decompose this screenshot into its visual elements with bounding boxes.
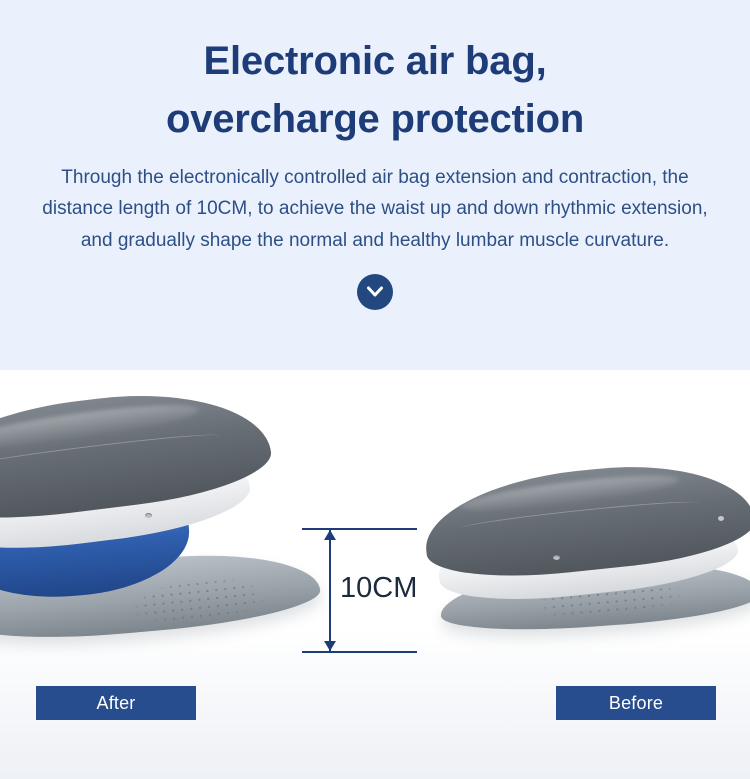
device-after-inflated xyxy=(0,380,340,650)
device-port-dot xyxy=(145,513,152,518)
device-port-dot xyxy=(718,516,724,521)
measurement-bottom-guide xyxy=(302,651,417,653)
arrow-down-icon xyxy=(324,641,336,651)
device-port-dot xyxy=(553,555,560,560)
measurement-label: 10CM xyxy=(340,572,417,605)
scroll-indicator[interactable] xyxy=(0,274,750,310)
measurement-top-guide xyxy=(302,528,417,530)
promo-page: Electronic air bag, overcharge protectio… xyxy=(0,0,750,779)
subtitle-text: Through the electronically controlled ai… xyxy=(25,162,725,256)
device-before-deflated xyxy=(430,450,750,650)
arrow-up-icon xyxy=(324,530,336,540)
measurement-vertical-line xyxy=(329,528,331,653)
header-section: Electronic air bag, overcharge protectio… xyxy=(0,0,750,370)
page-title: Electronic air bag, overcharge protectio… xyxy=(0,0,750,148)
measurement-annotation: 10CM xyxy=(302,528,442,653)
caption-before[interactable]: Before xyxy=(556,686,716,720)
caption-after[interactable]: After xyxy=(36,686,196,720)
product-comparison-image: 10CM After Before xyxy=(0,370,750,779)
chevron-down-icon[interactable] xyxy=(357,274,393,310)
title-line-1: Electronic air bag, xyxy=(204,39,547,83)
title-line-2: overcharge protection xyxy=(0,90,750,148)
